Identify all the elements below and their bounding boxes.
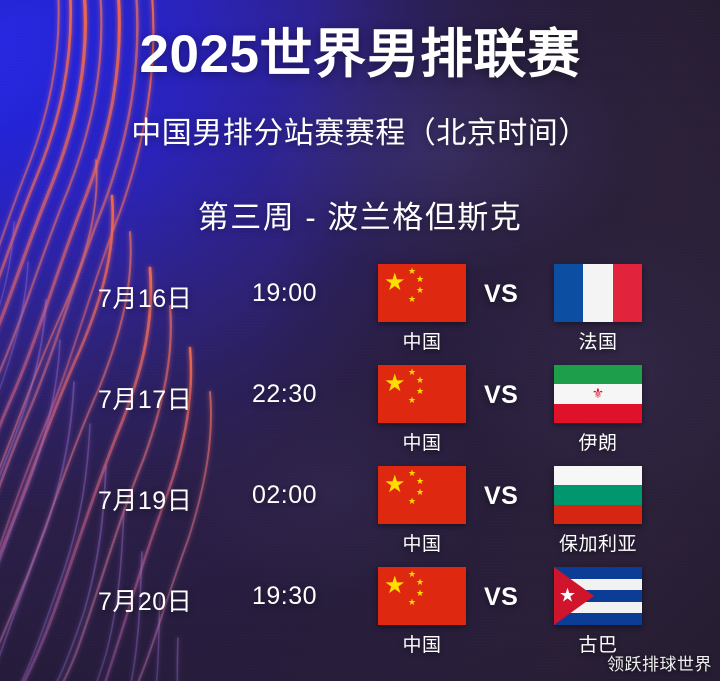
flag-star: ★ xyxy=(408,571,416,580)
home-team: ★ ★ ★ ★ ★ 中国 xyxy=(362,264,482,354)
versus-label: VS xyxy=(484,583,518,612)
away-team: ★ 古巴 xyxy=(538,567,658,657)
flag-band xyxy=(554,404,642,423)
france-flag-icon xyxy=(554,264,642,322)
flag-star: ★ xyxy=(408,268,416,277)
match-date: 7月20日 xyxy=(98,582,238,618)
volleyball-schedule-poster: 2025世界男排联赛 中国男排分站赛赛程（北京时间） 第三周 - 波兰格但斯克 … xyxy=(0,0,720,681)
flag-band xyxy=(554,264,583,322)
match-time: 19:00 xyxy=(252,279,362,308)
home-team-name: 中国 xyxy=(362,529,482,556)
flag-star: ★ xyxy=(559,587,576,606)
iran-emblem-icon: ⚜ xyxy=(592,387,604,401)
flag-star: ★ xyxy=(416,478,424,487)
flag-star: ★ xyxy=(384,573,406,597)
match-date: 7月19日 xyxy=(98,481,238,517)
flag-star: ★ xyxy=(416,590,424,599)
flag-band xyxy=(554,466,642,485)
home-team-name: 中国 xyxy=(362,428,482,455)
match-row: 7月19日 02:00 ★ ★ ★ ★ ★ 中国 VS xyxy=(0,460,720,561)
flag-star: ★ xyxy=(408,369,416,378)
flag-star: ★ xyxy=(416,489,424,498)
flag-star: ★ xyxy=(408,599,416,608)
flag-star: ★ xyxy=(416,276,424,285)
match-time: 22:30 xyxy=(252,380,362,409)
away-team-name: 保加利亚 xyxy=(538,529,658,556)
home-team-name: 中国 xyxy=(362,630,482,657)
flag-star: ★ xyxy=(408,498,416,507)
flag-star: ★ xyxy=(384,371,406,395)
away-team: 法国 xyxy=(538,264,658,354)
flag-band: ⚜ xyxy=(554,384,642,403)
china-flag-icon: ★ ★ ★ ★ ★ xyxy=(378,567,466,625)
flag-star: ★ xyxy=(416,377,424,386)
home-team: ★ ★ ★ ★ ★ 中国 xyxy=(362,365,482,455)
flag-band xyxy=(613,264,642,322)
cuba-flag-icon: ★ xyxy=(554,567,642,625)
flag-star: ★ xyxy=(408,397,416,406)
iran-flag-icon: ⚜ xyxy=(554,365,642,423)
versus-label: VS xyxy=(484,381,518,410)
flag-star: ★ xyxy=(416,579,424,588)
match-list: 7月16日 19:00 ★ ★ ★ ★ ★ 中国 VS xyxy=(0,258,720,662)
watermark: 领跃排球世界 xyxy=(607,650,712,675)
poster-title: 2025世界男排联赛 xyxy=(0,26,720,84)
match-date: 7月17日 xyxy=(98,380,238,416)
poster-content: 2025世界男排联赛 中国男排分站赛赛程（北京时间） 第三周 - 波兰格但斯克 … xyxy=(0,0,720,681)
match-row: 7月17日 22:30 ★ ★ ★ ★ ★ 中国 VS xyxy=(0,359,720,460)
flag-band xyxy=(554,505,642,524)
away-team-name: 法国 xyxy=(538,327,658,354)
versus-label: VS xyxy=(484,280,518,309)
flag-star: ★ xyxy=(408,470,416,479)
china-flag-icon: ★ ★ ★ ★ ★ xyxy=(378,365,466,423)
flag-star: ★ xyxy=(408,296,416,305)
home-team: ★ ★ ★ ★ ★ 中国 xyxy=(362,567,482,657)
versus-label: VS xyxy=(484,482,518,511)
match-row: 7月20日 19:30 ★ ★ ★ ★ ★ 中国 VS xyxy=(0,561,720,662)
flag-star: ★ xyxy=(416,287,424,296)
bulgaria-flag-icon xyxy=(554,466,642,524)
home-team-name: 中国 xyxy=(362,327,482,354)
home-team: ★ ★ ★ ★ ★ 中国 xyxy=(362,466,482,556)
match-date: 7月16日 xyxy=(98,279,238,315)
flag-star: ★ xyxy=(384,472,406,496)
match-time: 19:30 xyxy=(252,582,362,611)
china-flag-icon: ★ ★ ★ ★ ★ xyxy=(378,466,466,524)
match-row: 7月16日 19:00 ★ ★ ★ ★ ★ 中国 VS xyxy=(0,258,720,359)
away-team: 保加利亚 xyxy=(538,466,658,556)
flag-band xyxy=(554,365,642,384)
poster-week-location: 第三周 - 波兰格但斯克 xyxy=(0,192,720,237)
flag-star: ★ xyxy=(384,270,406,294)
match-time: 02:00 xyxy=(252,481,362,510)
poster-subtitle: 中国男排分站赛赛程（北京时间） xyxy=(0,108,720,152)
flag-band xyxy=(554,485,642,504)
flag-band xyxy=(583,264,612,322)
away-team: ⚜ 伊朗 xyxy=(538,365,658,455)
away-team-name: 伊朗 xyxy=(538,428,658,455)
flag-star: ★ xyxy=(416,388,424,397)
china-flag-icon: ★ ★ ★ ★ ★ xyxy=(378,264,466,322)
